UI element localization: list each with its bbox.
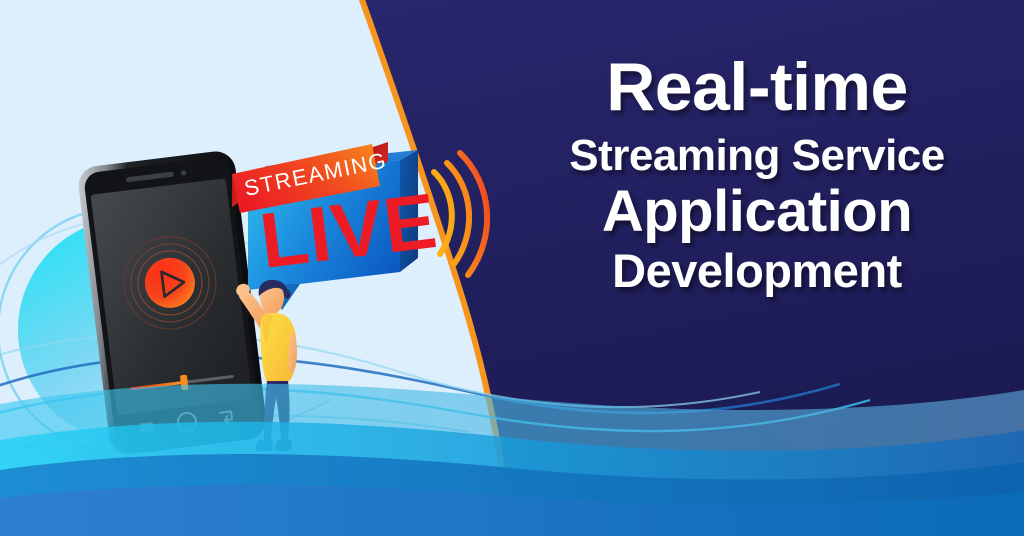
headline-block: Real-time Streaming Service Application … <box>512 52 1002 296</box>
headline-line-2: Streaming Service <box>512 133 1002 179</box>
headline-line-1: Real-time <box>512 52 1002 123</box>
promo-banner: STREAMING LIVE <box>0 0 1024 536</box>
headline-line-4: Development <box>512 247 1002 296</box>
headline-line-3: Application <box>512 182 1002 242</box>
